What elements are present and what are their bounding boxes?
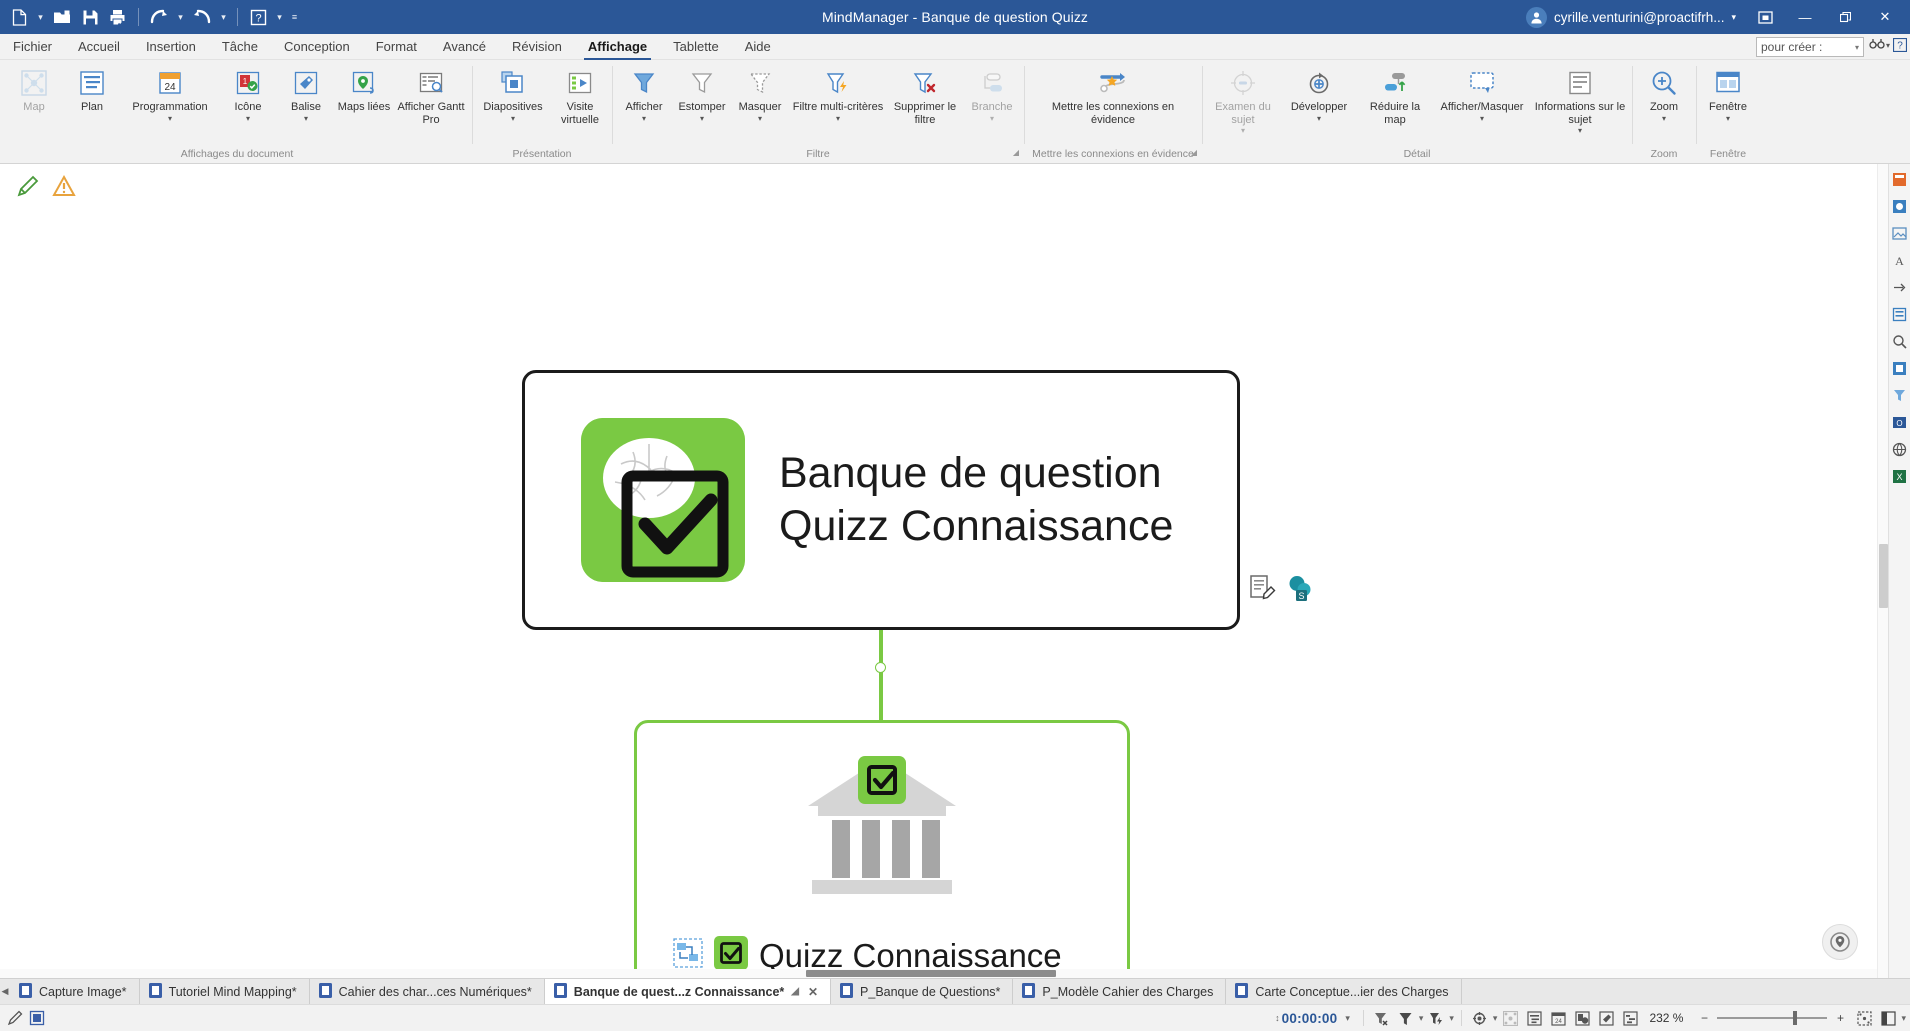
tab-fichier[interactable]: Fichier	[0, 36, 65, 59]
root-topic-text: Banque de question Quizz Connaissance	[779, 447, 1173, 554]
bank-building-icon	[637, 743, 1127, 913]
gantt-view-status-icon[interactable]	[1619, 1007, 1641, 1029]
quick-access-toolbar: ▾ ▾ ▾ ? ▾ ≡	[6, 4, 301, 30]
afficher-caret-icon[interactable]: ▾	[642, 114, 646, 123]
filtre-label-text: Filtre	[806, 148, 829, 160]
developper-caret-icon[interactable]: ▾	[1317, 114, 1321, 123]
connexions-dialog-launcher-icon[interactable]: ◢	[1191, 144, 1197, 161]
ribbon-item-diapositives[interactable]: Diapositives ▾	[475, 65, 551, 129]
map-canvas[interactable]: Banque de question Quizz Connaissance S	[0, 164, 1910, 978]
ribbon-item-afficher-masquer[interactable]: Afficher/Masquer ▾	[1433, 65, 1531, 129]
doc-tab-icon	[1235, 983, 1248, 1001]
tab-accueil[interactable]: Accueil	[65, 36, 133, 59]
ribbon-group-fenetre: Fenêtre ▾ Fenêtre	[1696, 60, 1760, 163]
ribbon-label-map: Map	[23, 101, 44, 114]
ribbon-label-plan: Plan	[81, 101, 103, 114]
zoom-slider[interactable]	[1717, 1011, 1827, 1025]
ribbon-label-estomper: Estomper	[678, 101, 725, 114]
walkthrough-icon	[567, 68, 593, 98]
examen-du-sujet-caret-icon: ▾	[1241, 126, 1245, 135]
horizontal-scrollbar-thumb[interactable]	[806, 970, 1056, 977]
ribbon-item-informations-sur-le-sujet[interactable]: Informations sur le sujet ▾	[1531, 65, 1629, 135]
qat-more-icon[interactable]: ≡	[288, 4, 301, 30]
branche-caret-icon: ▾	[990, 114, 994, 123]
masquer-caret-icon[interactable]: ▾	[758, 114, 762, 123]
tab-conception[interactable]: Conception	[271, 36, 363, 59]
tell-me-value: pour créer :	[1761, 40, 1822, 54]
window-icon	[1714, 68, 1742, 98]
topic-info-icon	[1566, 68, 1594, 98]
ribbon-label-programmation: Programmation	[132, 101, 207, 114]
svg-text:S: S	[1298, 591, 1304, 601]
ribbon-label-maps-liees: Maps liées	[338, 101, 391, 114]
doc-tab-icon	[319, 983, 332, 1001]
rail-filter-icon[interactable]	[1891, 386, 1909, 404]
ribbon-item-examen-du-sujet[interactable]: Examen du sujet ▾	[1205, 65, 1281, 135]
tab-aide[interactable]: Aide	[732, 36, 784, 59]
doc-tab-label: Tutoriel Mind Mapping*	[169, 985, 297, 999]
qat-divider-2	[237, 8, 238, 26]
ribbon-label-balise: Balise	[291, 101, 321, 114]
power-filter-status-icon[interactable]	[1425, 1007, 1447, 1029]
timer-spinner-icon[interactable]: ↕	[1275, 1013, 1280, 1023]
filter-hide-icon	[747, 68, 773, 98]
clear-filter-status-icon[interactable]	[1371, 1007, 1393, 1029]
ribbon-item-visite-virtuelle[interactable]: Visite virtuelle	[551, 65, 609, 129]
ribbon-group-zoom: Zoom ▾ Zoom	[1632, 60, 1696, 163]
programmation-caret-icon[interactable]: ▾	[168, 114, 172, 123]
doc-tab-tutoriel-mind-mapping[interactable]: Tutoriel Mind Mapping*	[140, 979, 310, 1004]
filter-fade-icon	[689, 68, 715, 98]
rail-format-icon[interactable]: A	[1891, 251, 1909, 269]
map-view-status-icon[interactable]	[1499, 1007, 1521, 1029]
connexions-label-text: Mettre les connexions en évidence	[1032, 148, 1194, 160]
close-button[interactable]: ✕	[1866, 2, 1904, 32]
doc-tab-label: Capture Image*	[39, 985, 127, 999]
doc-tab-capture-image[interactable]: Capture Image*	[10, 979, 140, 1004]
ribbon-label-developper: Développer	[1291, 101, 1347, 114]
doc-tab-close-icon[interactable]: ✕	[808, 985, 818, 999]
show-hide-icon	[1468, 68, 1496, 98]
timer-value: 00:00:00	[1282, 1011, 1338, 1026]
doc-tab-label: P_Modèle Cahier des Charges	[1042, 985, 1213, 999]
svg-text:24: 24	[1555, 1019, 1562, 1025]
relationship-icon[interactable]	[673, 938, 703, 973]
schedule-view-status-icon[interactable]: 24	[1547, 1007, 1569, 1029]
help-icon[interactable]: ?	[245, 4, 271, 30]
doc-tab-carte-conceptuelle-cahier-des-charges[interactable]: Carte Conceptue...ier des Charges	[1226, 979, 1461, 1004]
capture-icon[interactable]	[26, 1007, 48, 1029]
open-folder-icon[interactable]	[49, 4, 75, 30]
collapse-map-icon	[1381, 68, 1409, 98]
ribbon-label-informations-sur-le-sujet: Informations sur le sujet	[1532, 101, 1628, 126]
doc-tab-icon	[1022, 983, 1035, 1001]
doc-tab-p-modele-cahier-des-charges[interactable]: P_Modèle Cahier des Charges	[1013, 979, 1226, 1004]
zoom-slider-track	[1717, 1017, 1827, 1019]
ribbon-group-mettre-les-connexions-en-evidence: Mettre les connexions en évidence Mettre…	[1024, 60, 1202, 163]
rail-search-icon[interactable]	[1891, 332, 1909, 350]
tab-tache[interactable]: Tâche	[209, 36, 271, 59]
doc-tab-label: Banque de quest...z Connaissance*	[574, 985, 784, 999]
root-topic-adornments: S	[1248, 574, 1314, 607]
status-divider-2	[1461, 1010, 1462, 1026]
ribbon-item-programmation[interactable]: 24 Programmation ▾	[121, 65, 219, 129]
right-task-pane-rail: A O X	[1888, 164, 1910, 978]
timer-caret-icon[interactable]: ▾	[1345, 1013, 1350, 1024]
fit-to-window-icon[interactable]	[1853, 1007, 1875, 1029]
pen-icon[interactable]	[4, 1007, 26, 1029]
icone-caret-icon[interactable]: ▾	[246, 114, 250, 123]
linked-maps-icon	[351, 68, 377, 98]
ribbon-group-label-fenetre: Fenêtre	[1699, 146, 1757, 163]
rail-library-icon[interactable]	[1891, 170, 1909, 188]
outline-view-status-icon[interactable]	[1523, 1007, 1545, 1029]
ribbon-item-filtre-multi-criteres[interactable]: Filtre multi-critères ▾	[789, 65, 887, 129]
doc-tab-icon	[554, 983, 567, 1001]
ribbon-label-filtre-multi-criteres: Filtre multi-critères	[793, 101, 883, 114]
ribbon-label-zoom: Zoom	[1650, 101, 1678, 114]
ribbon-item-map[interactable]: Map	[5, 65, 63, 129]
svg-text:?: ?	[255, 12, 261, 24]
doc-tab-label: Cahier des char...ces Numériques*	[339, 985, 532, 999]
status-bar: ↕ 00:00:00 ▾ ▾ ▾ ▾ 24	[0, 1004, 1910, 1031]
doc-tab-icon	[149, 983, 162, 1001]
ribbon-label-afficher-masquer: Afficher/Masquer	[1441, 101, 1524, 114]
undo-caret-icon[interactable]: ▾	[174, 4, 187, 30]
account-caret-icon: ▾	[1731, 12, 1736, 23]
diapositives-caret-icon[interactable]: ▾	[511, 114, 515, 123]
zoom-in-button[interactable]: +	[1829, 1007, 1851, 1029]
ribbon-tab-strip: Fichier Accueil Insertion Tâche Concepti…	[0, 34, 1910, 60]
doc-tab-p-banque-de-questions[interactable]: P_Banque de Questions*	[831, 979, 1013, 1004]
ribbon-label-afficher-gantt-pro: Afficher Gantt Pro	[394, 101, 468, 126]
notes-icon[interactable]	[1248, 574, 1276, 607]
ribbon-item-afficher[interactable]: Afficher ▾	[615, 65, 673, 129]
print-icon[interactable]	[105, 4, 131, 30]
balise-caret-icon[interactable]: ▾	[304, 114, 308, 123]
ribbon: Map Plan 24 Programmation ▾ 1 Icône	[0, 60, 1910, 164]
ribbon-label-reduire-la-map: Réduire la map	[1358, 101, 1432, 126]
fenetre-caret-icon[interactable]: ▾	[1726, 114, 1730, 123]
ribbon-label-fenetre: Fenêtre	[1709, 101, 1747, 114]
rail-excel-icon[interactable]: X	[1891, 467, 1909, 485]
layout-caret-icon[interactable]: ▾	[1901, 1013, 1906, 1024]
ribbon-item-developper[interactable]: Développer ▾	[1281, 65, 1357, 129]
tag-view-status-icon[interactable]	[1595, 1007, 1617, 1029]
filtre-multi-criteres-caret-icon[interactable]: ▾	[836, 114, 840, 123]
warning-marker-icon[interactable]	[52, 174, 76, 203]
svg-text:1: 1	[243, 77, 248, 86]
clear-filter-icon	[912, 68, 938, 98]
power-filter-icon	[825, 68, 851, 98]
avatar	[1526, 7, 1547, 28]
filtre-dialog-launcher-icon[interactable]: ◢	[1013, 144, 1019, 161]
horizontal-scrollbar[interactable]	[0, 969, 1877, 978]
power-filter-caret-icon[interactable]: ▾	[1449, 1013, 1454, 1024]
tag-icon	[293, 68, 319, 98]
svg-text:?: ?	[1897, 41, 1903, 52]
canvas-marker-row	[16, 174, 76, 203]
ribbon-display-options-icon[interactable]	[1746, 2, 1784, 32]
estomper-caret-icon[interactable]: ▾	[700, 114, 704, 123]
doc-tab-banque-de-question-quizz-connaissance[interactable]: Banque de quest...z Connaissance* ◢ ✕	[545, 979, 831, 1004]
restore-button[interactable]	[1826, 2, 1864, 32]
redo-caret-icon[interactable]: ▾	[217, 4, 230, 30]
ribbon-label-mettre-les-connexions: Mettre les connexions en évidence	[1038, 101, 1188, 126]
doc-tab-label: P_Banque de Questions*	[860, 985, 1000, 999]
icon-view-icon: 1	[235, 68, 261, 98]
doc-tabs-scroll-left-icon[interactable]: ◀	[0, 979, 10, 1004]
qat-divider-1	[138, 8, 139, 26]
help-caret-icon[interactable]: ▾	[273, 4, 286, 30]
gantt-pro-icon	[418, 68, 444, 98]
ribbon-label-branche: Branche	[972, 101, 1013, 114]
title-bar: ▾ ▾ ▾ ? ▾ ≡ MindManager - Banque de ques…	[0, 0, 1910, 34]
ribbon-item-maps-liees[interactable]: Maps liées	[335, 65, 393, 129]
doc-tab-pin-icon[interactable]: ◢	[791, 986, 799, 997]
find-caret-icon[interactable]: ▾	[1886, 41, 1890, 50]
schedule-icon: 24	[157, 68, 183, 98]
redo-icon[interactable]	[189, 4, 215, 30]
status-divider-1	[1363, 1010, 1364, 1026]
sharepoint-icon[interactable]: S	[1286, 574, 1314, 607]
root-topic[interactable]: Banque de question Quizz Connaissance	[522, 370, 1240, 630]
icon-view-status-icon[interactable]	[1571, 1007, 1593, 1029]
slides-icon	[500, 68, 526, 98]
tell-me-caret-icon[interactable]: ▾	[1855, 43, 1859, 52]
ribbon-item-zoom[interactable]: Zoom ▾	[1635, 65, 1693, 129]
svg-text:A: A	[1895, 254, 1904, 268]
rail-web-icon[interactable]	[1891, 440, 1909, 458]
ribbon-group-label-presentation: Présentation	[475, 146, 609, 163]
tab-avance[interactable]: Avancé	[430, 36, 499, 59]
ribbon-group-label-detail: Détail	[1205, 146, 1629, 163]
rail-icons-icon[interactable]	[1891, 197, 1909, 215]
ribbon-label-supprimer-le-filtre: Supprimer le filtre	[888, 101, 962, 126]
zoom-icon	[1650, 68, 1678, 98]
vertical-scrollbar-thumb[interactable]	[1879, 544, 1888, 608]
save-icon[interactable]	[77, 4, 103, 30]
map-locator-icon[interactable]	[1822, 924, 1858, 960]
filter-status-caret-icon[interactable]: ▾	[1419, 1013, 1424, 1024]
ribbon-item-icone[interactable]: 1 Icône ▾	[219, 65, 277, 129]
ribbon-item-afficher-gantt-pro[interactable]: Afficher Gantt Pro	[393, 65, 469, 129]
document-tab-bar: ◀ Capture Image* Tutoriel Mind Mapping* …	[0, 978, 1910, 1004]
tab-format[interactable]: Format	[363, 36, 430, 59]
ribbon-item-estomper[interactable]: Estomper ▾	[673, 65, 731, 129]
minimize-button[interactable]: —	[1786, 2, 1824, 32]
ribbon-label-visite-virtuelle: Visite virtuelle	[552, 101, 608, 126]
root-topic-line2: Quizz Connaissance	[779, 500, 1173, 553]
ribbon-item-plan[interactable]: Plan	[63, 65, 121, 129]
ribbon-group-affichages-du-document: Map Plan 24 Programmation ▾ 1 Icône	[2, 60, 472, 163]
ribbon-label-diapositives: Diapositives	[483, 101, 542, 114]
map-view-icon	[21, 68, 47, 98]
ribbon-group-label-zoom: Zoom	[1635, 146, 1693, 163]
tab-insertion[interactable]: Insertion	[133, 36, 209, 59]
pen-marker-icon[interactable]	[16, 174, 40, 203]
connector-collapse-handle[interactable]	[875, 662, 886, 673]
ribbon-label-icone: Icône	[235, 101, 262, 114]
filter-status-icon[interactable]	[1395, 1007, 1417, 1029]
zoom-percentage: 232 %	[1649, 1011, 1683, 1025]
informations-sur-le-sujet-caret-icon[interactable]: ▾	[1578, 126, 1582, 135]
tab-affichage[interactable]: Affichage	[575, 36, 660, 59]
svg-text:O: O	[1896, 419, 1902, 428]
root-topic-line1: Banque de question	[779, 447, 1173, 500]
svg-text:24: 24	[164, 82, 176, 93]
ribbon-item-masquer[interactable]: Masquer ▾	[731, 65, 789, 129]
child-topic-quizz-connaissance[interactable]: Quizz Connaissance	[634, 720, 1130, 978]
ribbon-item-mettre-les-connexions-en-evidence[interactable]: Mettre les connexions en évidence	[1027, 65, 1199, 129]
highlight-connections-icon	[1096, 68, 1130, 98]
rail-map-parts-icon[interactable]	[1891, 359, 1909, 377]
focus-icon[interactable]	[1469, 1007, 1491, 1029]
rail-images-icon[interactable]	[1891, 224, 1909, 242]
svg-text:X: X	[1896, 472, 1902, 482]
branch-icon	[979, 68, 1005, 98]
new-document-caret-icon[interactable]: ▾	[34, 4, 47, 30]
rail-tasks-icon[interactable]	[1891, 305, 1909, 323]
zoom-slider-thumb[interactable]	[1793, 1011, 1797, 1025]
topic-review-icon	[1229, 68, 1257, 98]
tab-revision[interactable]: Révision	[499, 36, 575, 59]
undo-icon[interactable]	[146, 4, 172, 30]
ribbon-item-branche[interactable]: Branche ▾	[963, 65, 1021, 129]
ribbon-group-label-filtre: Filtre ◢	[615, 146, 1021, 163]
account-name: cyrille.venturini@proactifrh...	[1554, 10, 1725, 25]
ribbon-item-supprimer-le-filtre[interactable]: Supprimer le filtre	[887, 65, 963, 129]
rail-outlook-icon[interactable]: O	[1891, 413, 1909, 431]
ribbon-item-reduire-la-map[interactable]: Réduire la map	[1357, 65, 1433, 129]
account-menu[interactable]: cyrille.venturini@proactifrh... ▾	[1518, 5, 1744, 30]
ribbon-group-presentation: Diapositives ▾ Visite virtuelle Présenta…	[472, 60, 612, 163]
layout-icon[interactable]	[1877, 1007, 1899, 1029]
tell-me-box[interactable]: pour créer : ▾	[1756, 37, 1864, 57]
rail-shapes-icon[interactable]	[1891, 278, 1909, 296]
brain-checkbox-icon	[581, 418, 745, 582]
afficher-masquer-caret-icon[interactable]: ▾	[1480, 114, 1484, 123]
doc-tab-icon	[19, 983, 32, 1001]
expand-icon	[1305, 68, 1333, 98]
doc-tab-icon	[840, 983, 853, 1001]
ribbon-group-detail: Examen du sujet ▾ Développer ▾ Réduire l…	[1202, 60, 1632, 163]
ribbon-group-label-connexions: Mettre les connexions en évidence ◢	[1027, 146, 1199, 163]
doc-tab-cahier-des-charges-numeriques[interactable]: Cahier des char...ces Numériques*	[310, 979, 545, 1004]
doc-tab-label: Carte Conceptue...ier des Charges	[1255, 985, 1448, 999]
find-icon[interactable]: ▾	[1869, 38, 1890, 52]
ribbon-item-balise[interactable]: Balise ▾	[277, 65, 335, 129]
connector-root-to-child	[879, 630, 883, 720]
ribbon-group-filtre: Afficher ▾ Estomper ▾ Masquer ▾	[612, 60, 1024, 163]
zoom-out-button[interactable]: −	[1693, 1007, 1715, 1029]
filter-show-icon	[631, 68, 657, 98]
ribbon-group-label-affichages: Affichages du document	[5, 146, 469, 163]
ribbon-label-masquer: Masquer	[739, 101, 782, 114]
focus-caret-icon[interactable]: ▾	[1493, 1013, 1498, 1024]
tab-tablette[interactable]: Tablette	[660, 36, 732, 59]
zoom-caret-icon[interactable]: ▾	[1662, 114, 1666, 123]
ribbon-label-examen-du-sujet: Examen du sujet	[1206, 101, 1280, 126]
new-document-icon[interactable]	[6, 4, 32, 30]
help-question-icon[interactable]: ?	[1893, 38, 1907, 57]
outline-view-icon	[79, 68, 105, 98]
vertical-scrollbar[interactable]	[1877, 164, 1888, 978]
ribbon-item-fenetre[interactable]: Fenêtre ▾	[1699, 65, 1757, 129]
ribbon-label-afficher: Afficher	[625, 101, 662, 114]
